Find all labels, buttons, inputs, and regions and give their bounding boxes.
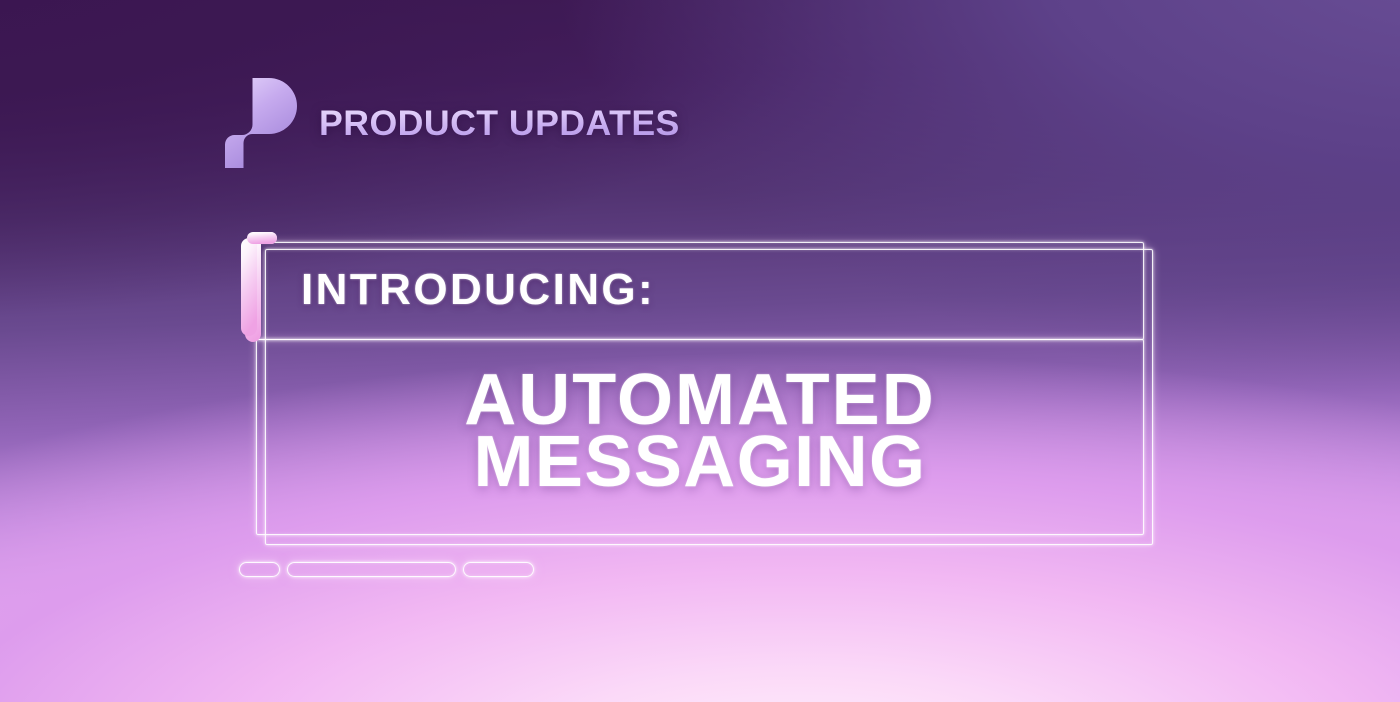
brand-label: PRODUCT UPDATES (319, 106, 680, 141)
corner-bracket-icon (241, 230, 281, 342)
card-frame-intro (256, 242, 1144, 340)
announcement-card: INTRODUCING: AUTOMATED MESSAGING (0, 0, 1400, 702)
intro-label: INTRODUCING: (301, 268, 655, 312)
headline-line-1: AUTOMATED (256, 370, 1144, 432)
progress-pill-medium (463, 562, 534, 577)
card-frame-headline (256, 339, 1144, 535)
banner-canvas: PRODUCT UPDATES (0, 0, 1400, 702)
progress-pill-short (239, 562, 280, 577)
banner-header: PRODUCT UPDATES (225, 78, 673, 168)
headline-line-2: MESSAGING (256, 432, 1144, 494)
headline: AUTOMATED MESSAGING (256, 370, 1144, 494)
progress-pill-long (287, 562, 456, 577)
card-frame-outer (265, 249, 1153, 545)
pendo-p-logo-icon (225, 78, 297, 168)
